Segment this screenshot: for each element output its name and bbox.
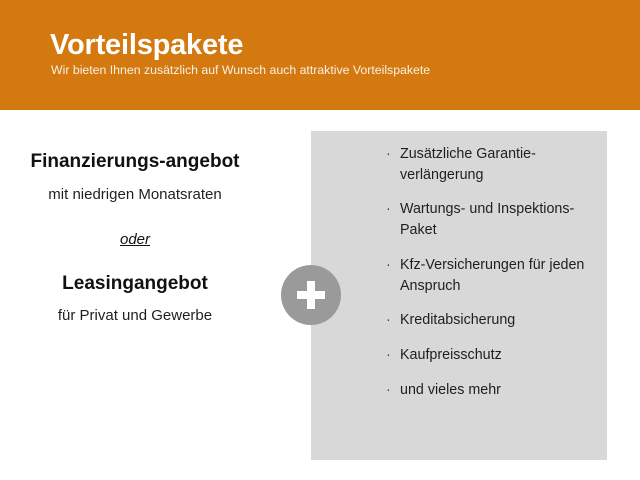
slide-root: Vorteilspakete Wir bieten Ihnen zusätzli… xyxy=(0,0,640,480)
bullet-icon: · xyxy=(386,310,391,331)
bullet-icon: · xyxy=(386,345,391,366)
page-title: Vorteilspakete xyxy=(50,30,243,60)
bullet-icon: · xyxy=(386,255,391,276)
list-item: · Kaufpreisschutz xyxy=(386,345,601,366)
offer-divider-word: oder xyxy=(20,231,250,248)
list-item: · Kreditabsicherung xyxy=(386,310,601,331)
leasing-offer-block: Leasingangebot für Privat und Gewerbe xyxy=(20,272,250,326)
list-item-label: Wartungs- und Inspektions-Paket xyxy=(400,201,574,238)
plus-icon xyxy=(281,265,341,325)
list-item-label: Kaufpreisschutz xyxy=(400,347,502,363)
list-item: · Kfz-Versicherungen für jeden Anspruch xyxy=(386,255,601,296)
list-item-label: und vieles mehr xyxy=(400,382,501,398)
list-item-label: Kreditabsicherung xyxy=(400,312,515,328)
financing-offer-heading: Finanzierungs-angebot xyxy=(20,150,250,174)
bullet-icon: · xyxy=(386,199,391,220)
page-subtitle: Wir bieten Ihnen zusätzlich auf Wunsch a… xyxy=(51,63,430,78)
bullet-icon: · xyxy=(386,144,391,165)
header-band: Vorteilspakete Wir bieten Ihnen zusätzli… xyxy=(0,0,640,110)
list-item-label: Kfz-Versicherungen für jeden Anspruch xyxy=(400,257,584,294)
offers-column: Finanzierungs-angebot mit niedrigen Mona… xyxy=(20,150,250,326)
benefits-list: · Zusätzliche Garantie-verlängerung · Wa… xyxy=(386,144,601,414)
leasing-offer-subtext: für Privat und Gewerbe xyxy=(20,306,250,326)
leasing-offer-heading: Leasingangebot xyxy=(20,272,250,296)
plus-icon-vertical-bar xyxy=(307,281,315,309)
list-item: · und vieles mehr xyxy=(386,380,601,401)
bullet-icon: · xyxy=(386,380,391,401)
benefits-panel: · Zusätzliche Garantie-verlängerung · Wa… xyxy=(311,131,607,460)
list-item-label: Zusätzliche Garantie-verlängerung xyxy=(400,146,536,183)
list-item: · Wartungs- und Inspektions-Paket xyxy=(386,199,601,240)
financing-offer-subtext: mit niedrigen Monatsraten xyxy=(20,185,250,205)
list-item: · Zusätzliche Garantie-verlängerung xyxy=(386,144,601,185)
financing-offer-block: Finanzierungs-angebot mit niedrigen Mona… xyxy=(20,150,250,205)
